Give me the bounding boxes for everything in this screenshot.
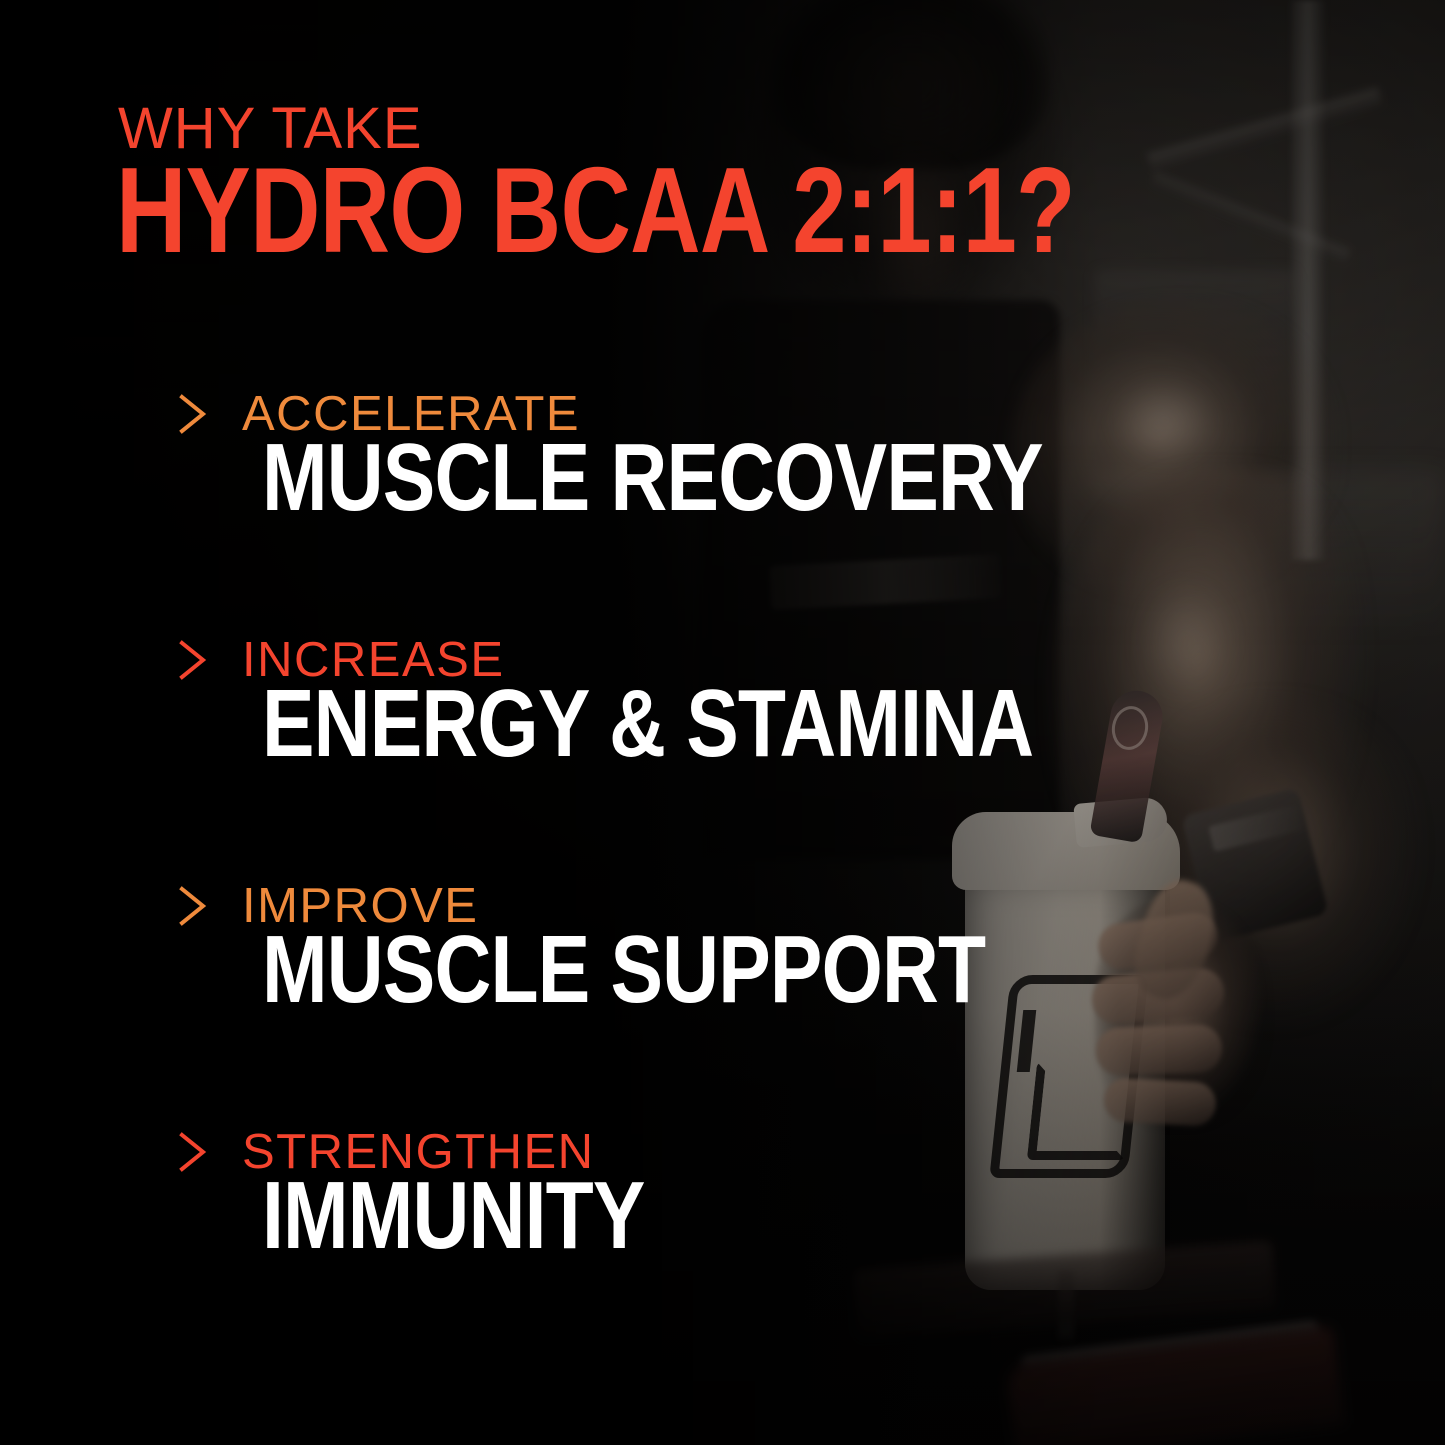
chevron-right-icon: [178, 639, 208, 681]
benefit-title: IMMUNITY: [262, 1168, 645, 1264]
page-title: HYDRO BCAA 2:1:1?: [116, 158, 1075, 263]
benefit-item-strengthen: STRENGTHEN IMMUNITY: [178, 1124, 1078, 1370]
chevron-right-icon: [178, 885, 208, 927]
benefit-title: MUSCLE RECOVERY: [262, 430, 1043, 526]
promo-banner: WHY TAKE HYDRO BCAA 2:1:1? ACCELERATE MU…: [0, 0, 1445, 1445]
benefit-item-increase: INCREASE ENERGY & STAMINA: [178, 632, 1078, 878]
benefit-title: MUSCLE SUPPORT: [262, 922, 985, 1018]
chevron-right-icon: [178, 393, 208, 435]
copy-block: WHY TAKE HYDRO BCAA 2:1:1? ACCELERATE MU…: [0, 0, 1445, 1445]
benefit-title: ENERGY & STAMINA: [262, 676, 1033, 772]
benefit-item-improve: IMPROVE MUSCLE SUPPORT: [178, 878, 1078, 1124]
chevron-right-icon: [178, 1131, 208, 1173]
benefit-item-accelerate: ACCELERATE MUSCLE RECOVERY: [178, 386, 1078, 632]
benefit-list: ACCELERATE MUSCLE RECOVERY INCREASE ENER…: [178, 386, 1078, 1370]
